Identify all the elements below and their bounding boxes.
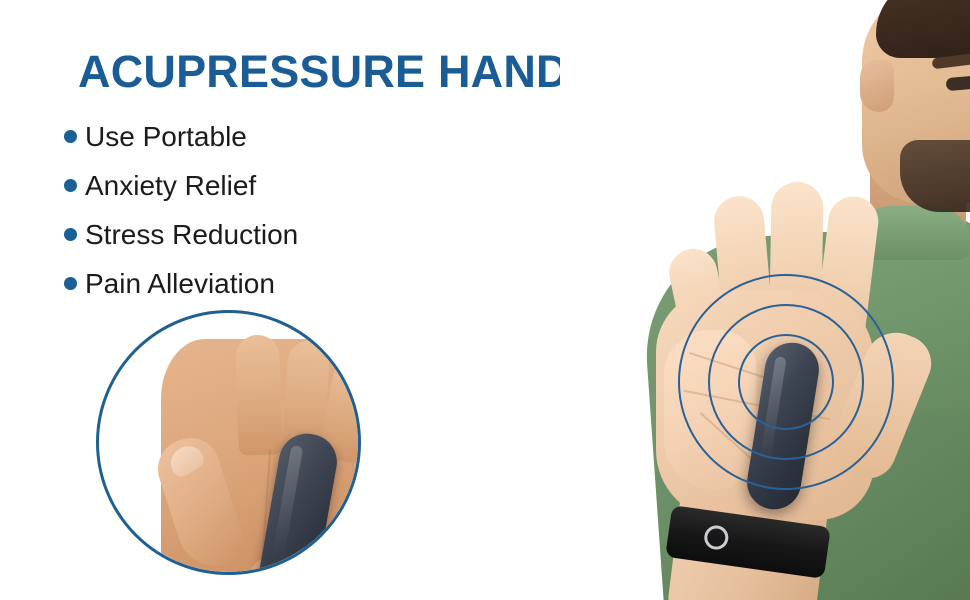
thumbnail-illustration [165,440,208,480]
list-item: Pain Alleviation [64,259,298,308]
pressure-wave-ring [678,274,894,490]
product-closeup-circle [96,310,361,575]
list-item: Use Portable [64,112,298,161]
thumb-illustration [150,431,250,572]
benefit-label: Anxiety Relief [85,172,256,200]
bullet-dot-icon [64,228,77,241]
ear [860,60,894,112]
product-feature-banner: ACUPRESSURE HAND PRESSURE Use Portable A… [0,0,970,600]
bullet-dot-icon [64,179,77,192]
finger-illustration [235,334,283,455]
list-item: Anxiety Relief [64,161,298,210]
bullet-dot-icon [64,130,77,143]
bullet-dot-icon [64,277,77,290]
list-item: Stress Reduction [64,210,298,259]
circle-image-clip [99,313,358,572]
benefit-label: Stress Reduction [85,221,298,249]
watch-buckle-icon [703,524,730,551]
benefits-list: Use Portable Anxiety Relief Stress Reduc… [64,112,298,308]
hair [876,0,970,58]
hand-back-illustration [161,339,358,572]
benefit-label: Use Portable [85,123,247,151]
benefit-label: Pain Alleviation [85,270,275,298]
lifestyle-photo [560,0,970,600]
